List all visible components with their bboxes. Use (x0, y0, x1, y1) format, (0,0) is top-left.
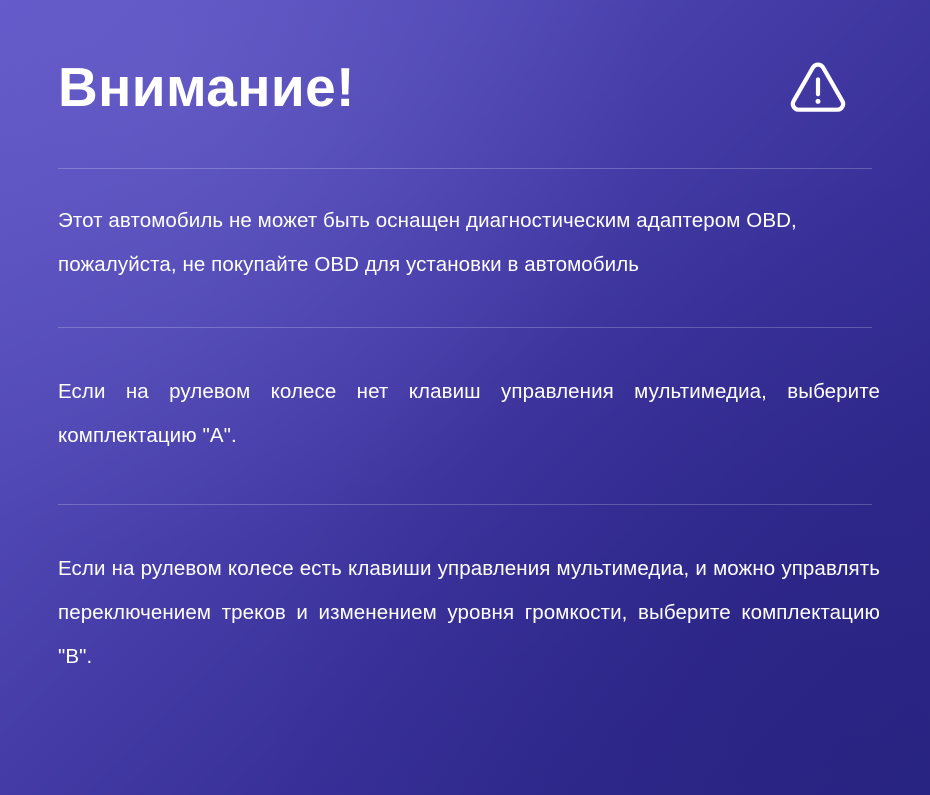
header: Внимание! (58, 0, 872, 168)
page-title: Внимание! (58, 60, 355, 115)
text-block-obd-notice: Этот автомобиль не может быть оснащен ди… (58, 169, 872, 327)
text-block-variant-a: Если на рулевом колесе нет клавиш управл… (58, 328, 872, 504)
block-text: Этот автомобиль не может быть оснащен ди… (58, 199, 888, 287)
warning-panel: Внимание! Этот автомобиль не может быть … (0, 0, 930, 795)
warning-triangle-icon (786, 55, 872, 119)
block-text: Если на рулевом колесе есть клавиши упра… (58, 547, 880, 679)
text-block-variant-b: Если на рулевом колесе есть клавиши упра… (58, 505, 872, 725)
panel-content: Внимание! Этот автомобиль не может быть … (0, 0, 930, 725)
block-text: Если на рулевом колесе нет клавиш управл… (58, 370, 880, 458)
